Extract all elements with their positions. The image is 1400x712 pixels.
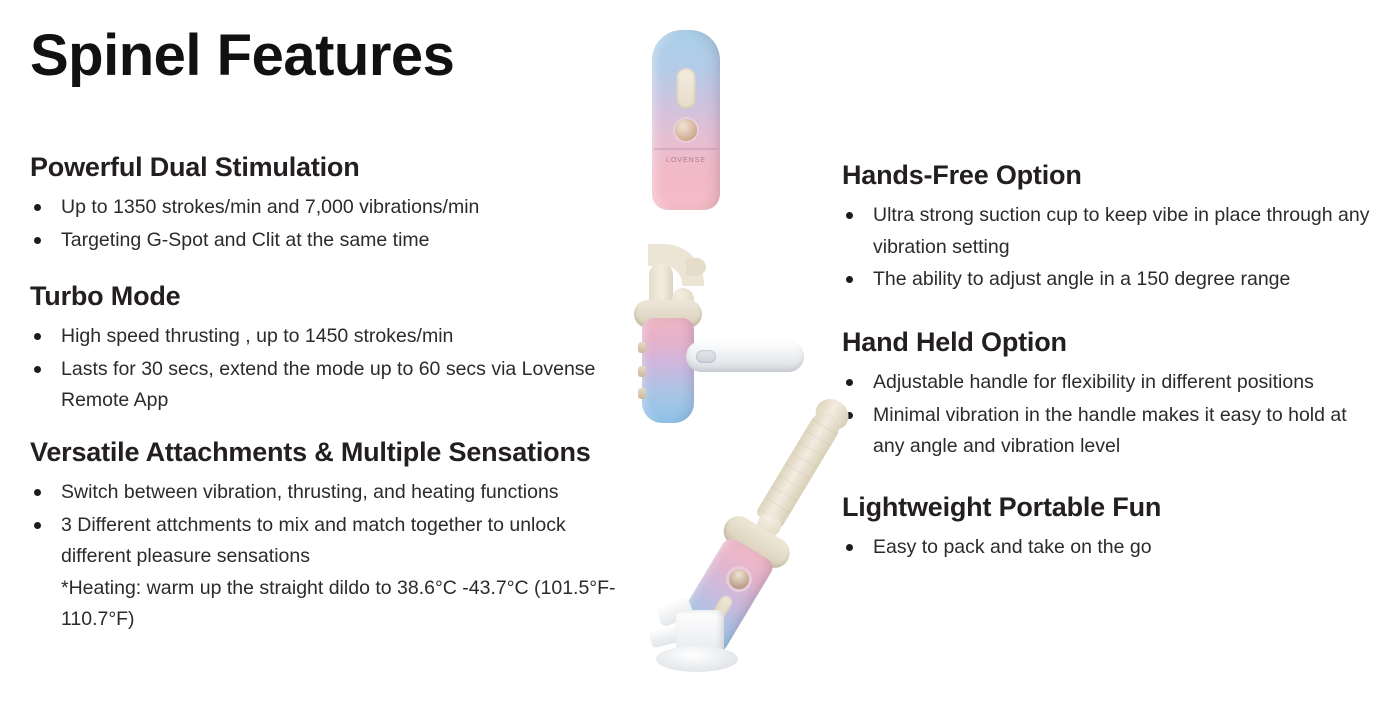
bullet-list: High speed thrusting , up to 1450 stroke…	[30, 321, 630, 417]
section-heading: Hands-Free Option	[842, 160, 1372, 191]
bullet-list: Adjustable handle for flexibility in dif…	[842, 367, 1372, 463]
feature-section-turbo-mode: Turbo Mode High speed thrusting , up to …	[30, 281, 630, 418]
bullet-list: Ultra strong suction cup to keep vibe in…	[842, 200, 1372, 296]
page-title: Spinel Features	[30, 26, 454, 87]
side-button-icon	[638, 342, 646, 353]
bullet-list: Switch between vibration, thrusting, and…	[30, 477, 630, 636]
side-button-icon	[638, 388, 646, 399]
feature-section-hands-free-option: Hands-Free Option Ultra strong suction c…	[842, 160, 1372, 297]
feature-section-hand-held-option: Hand Held Option Adjustable handle for f…	[842, 327, 1372, 464]
power-button-icon	[675, 119, 697, 141]
bullet-list: Easy to pack and take on the go	[842, 532, 1372, 564]
feature-section-lightweight-portable-fun: Lightweight Portable Fun Easy to pack an…	[842, 492, 1372, 565]
list-item: Switch between vibration, thrusting, and…	[30, 477, 630, 509]
list-item: Easy to pack and take on the go	[842, 532, 1372, 564]
suction-cup-base	[656, 646, 738, 672]
heating-note: *Heating: warm up the straight dildo to …	[61, 573, 630, 636]
textured-shaft	[755, 408, 845, 530]
list-item: 3 Different attchments to mix and match …	[30, 510, 630, 636]
list-item: The ability to adjust angle in a 150 deg…	[842, 264, 1372, 296]
list-item: Lasts for 30 secs, extend the mode up to…	[30, 354, 630, 417]
device-seam	[654, 148, 718, 150]
feature-section-powerful-dual-stimulation: Powerful Dual Stimulation Up to 1350 str…	[30, 152, 630, 257]
product-image-main-body: LOVENSE	[652, 30, 720, 210]
list-item: Ultra strong suction cup to keep vibe in…	[842, 200, 1372, 263]
section-heading: Versatile Attachments & Multiple Sensati…	[30, 437, 630, 468]
device-slot	[677, 68, 696, 109]
list-item: Adjustable handle for flexibility in dif…	[842, 367, 1372, 399]
curved-attachment-tip	[686, 258, 706, 276]
product-image-curved-attachment	[624, 238, 814, 423]
section-heading: Hand Held Option	[842, 327, 1372, 358]
list-item: High speed thrusting , up to 1450 stroke…	[30, 321, 630, 353]
bullet-list: Up to 1350 strokes/min and 7,000 vibrati…	[30, 192, 630, 256]
handle-latch	[696, 350, 716, 363]
list-item: Up to 1350 strokes/min and 7,000 vibrati…	[30, 192, 630, 224]
product-image-straight-dildo-mounted	[620, 438, 820, 668]
list-item-text: 3 Different attchments to mix and match …	[61, 514, 566, 568]
section-heading: Turbo Mode	[30, 281, 630, 312]
list-item: Targeting G-Spot and Clit at the same ti…	[30, 225, 630, 257]
brand-logo: LOVENSE	[666, 157, 706, 164]
list-item: Minimal vibration in the handle makes it…	[842, 400, 1372, 463]
feature-section-versatile-attachments: Versatile Attachments & Multiple Sensati…	[30, 437, 630, 637]
section-heading: Powerful Dual Stimulation	[30, 152, 630, 183]
section-heading: Lightweight Portable Fun	[842, 492, 1372, 523]
side-button-icon	[638, 366, 646, 377]
device-body	[642, 318, 694, 423]
